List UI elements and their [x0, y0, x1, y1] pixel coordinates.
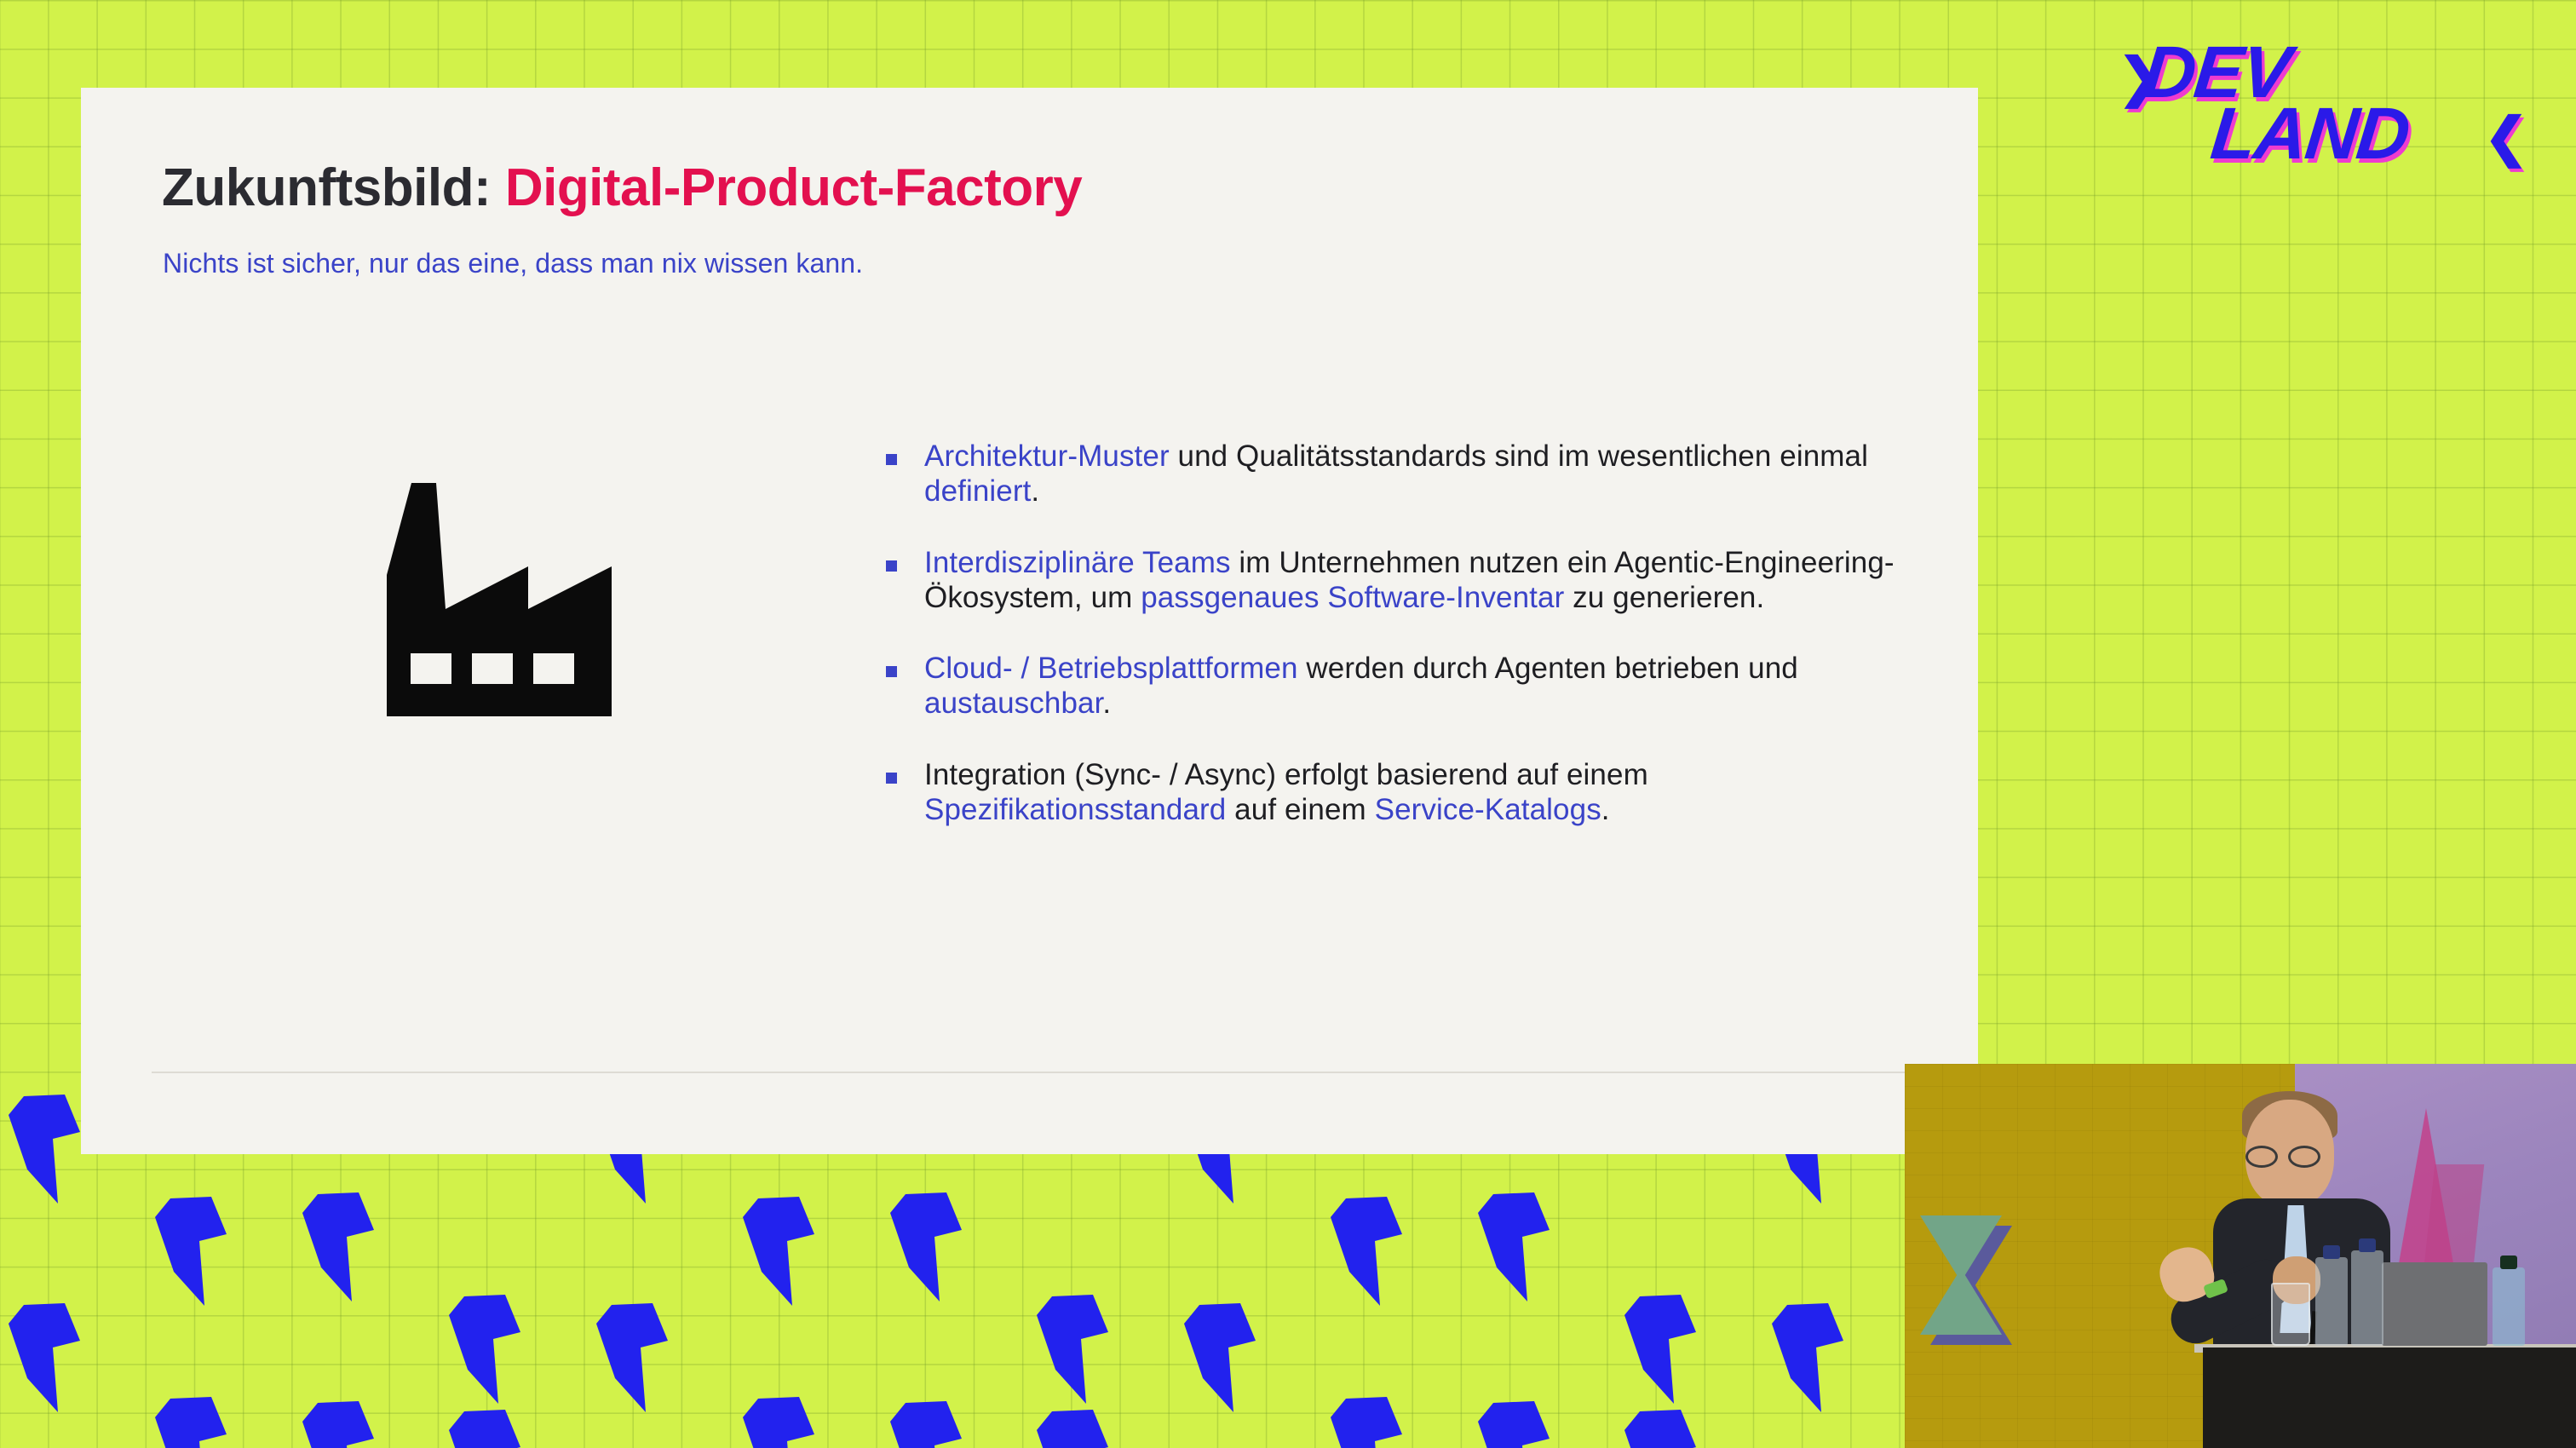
bullet-plain: .: [1102, 687, 1111, 720]
bullet-plain: .: [1601, 793, 1610, 826]
bullet-highlight: Interdisziplinäre Teams: [924, 546, 1231, 579]
speaker-video-overlay[interactable]: [1905, 1064, 2576, 1448]
bullet-plain: Integration (Sync- / Async) erfolgt basi…: [924, 758, 1648, 791]
bullet-text-4: Integration (Sync- / Async) erfolgt basi…: [924, 757, 1934, 828]
speaker-glasses-right: [2288, 1146, 2320, 1168]
bullet-plain: auf einem: [1226, 793, 1374, 826]
slide-subtitle: Nichts ist sicher, nur das eine, dass ma…: [163, 248, 863, 279]
bullet-highlight: austauschbar: [924, 687, 1102, 720]
bullet-text-1: Architektur-Muster und Qualitätsstandard…: [924, 439, 1934, 509]
bullet-plain: .: [1031, 474, 1039, 508]
bullet-text-2: Interdisziplinäre Teams im Unternehmen n…: [924, 545, 1934, 616]
water-bottle-1: [2315, 1257, 2348, 1346]
factory-icon: [383, 473, 630, 720]
bullet-plain: zu generieren.: [1564, 581, 1764, 614]
water-bottle-2: [2351, 1250, 2383, 1346]
bullet-highlight: Service-Katalogs: [1375, 793, 1601, 826]
stage-table: [2203, 1347, 2576, 1448]
bullet-highlight: definiert: [924, 474, 1031, 508]
bullet-square-icon: [886, 666, 897, 677]
presentation-slide: Zukunftsbild: Digital-Product-Factory Ni…: [81, 88, 1978, 1154]
bullet-square-icon: [886, 454, 897, 465]
slide-title-accent: Digital-Product-Factory: [505, 158, 1082, 217]
list-item: Integration (Sync- / Async) erfolgt basi…: [886, 757, 1934, 828]
water-bottle-3: [2493, 1267, 2525, 1346]
page-title: Zukunftsbild: Digital-Product-Factory: [162, 158, 1082, 218]
bullet-highlight: Cloud- / Betriebsplattformen: [924, 652, 1298, 685]
bullet-square-icon: [886, 773, 897, 784]
footer-divider: [152, 1072, 1906, 1073]
slide-title-prefix: Zukunftsbild:: [162, 158, 505, 217]
bullet-plain: werden durch Agenten betrieben und: [1298, 652, 1798, 685]
bullet-square-icon: [886, 560, 897, 572]
list-item: Architektur-Muster und Qualitätsstandard…: [886, 439, 1934, 509]
bullet-highlight: Architektur-Muster: [924, 440, 1170, 473]
bullet-highlight: Spezifikationsstandard: [924, 793, 1226, 826]
bullet-text-3: Cloud- / Betriebsplattformen werden durc…: [924, 651, 1934, 721]
bullet-plain: und Qualitätsstandards sind im wesentlic…: [1170, 440, 1868, 473]
list-item: Interdisziplinäre Teams im Unternehmen n…: [886, 545, 1934, 616]
bullet-highlight: passgenaues Software-Inventar: [1141, 581, 1564, 614]
slide-footer: enpit Was wird aus Micro-Services und Se…: [81, 1089, 1978, 1140]
list-item: Cloud- / Betriebsplattformen werden durc…: [886, 651, 1934, 721]
laptop: [2382, 1262, 2487, 1346]
speaker-glasses-left: [2245, 1146, 2278, 1168]
bullet-list: Architektur-Muster und Qualitätsstandard…: [886, 439, 1934, 827]
drinking-glass: [2271, 1283, 2310, 1346]
